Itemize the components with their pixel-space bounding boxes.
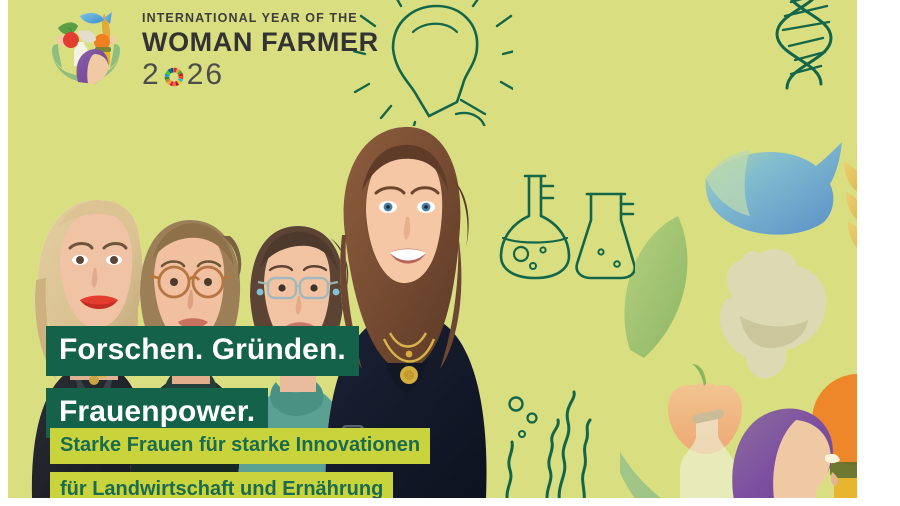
page-title: WOMAN FARMER	[142, 28, 379, 57]
fish-icon	[705, 142, 842, 235]
header-text: INTERNATIONAL YEAR OF THE WOMAN FARMER 2	[142, 6, 379, 90]
woman-farmer-watermark	[620, 120, 857, 498]
headline-block: Forschen. Gründen. Frauenpower.	[46, 326, 359, 438]
subheadline-block: Starke Frauen für starke Innovationen fü…	[50, 428, 430, 498]
year-prefix: 2	[142, 60, 161, 90]
year-suffix: 26	[187, 60, 224, 90]
dna-helix-icon	[753, 0, 857, 106]
wheat-icon	[844, 130, 857, 256]
headline-line-1: Forschen. Gründen.	[46, 326, 359, 376]
header-kicker: INTERNATIONAL YEAR OF THE	[142, 12, 379, 25]
seaweed-algae-icon	[494, 372, 614, 498]
subheadline-line-1: Starke Frauen für starke Innovationen	[50, 428, 430, 464]
lab-flasks-icon	[495, 172, 635, 282]
subheadline-line-2: für Landwirtschaft und Ernährung	[50, 472, 393, 498]
sdg-color-wheel	[163, 64, 185, 86]
chicken-icon	[720, 249, 826, 378]
woman-farmer-emblem	[44, 6, 128, 90]
header-lockup: INTERNATIONAL YEAR OF THE WOMAN FARMER 2	[44, 6, 379, 90]
campaign-banner: INTERNATIONAL YEAR OF THE WOMAN FARMER 2	[0, 0, 900, 506]
banner-canvas: INTERNATIONAL YEAR OF THE WOMAN FARMER 2	[8, 0, 857, 498]
header-year: 2	[142, 60, 379, 90]
